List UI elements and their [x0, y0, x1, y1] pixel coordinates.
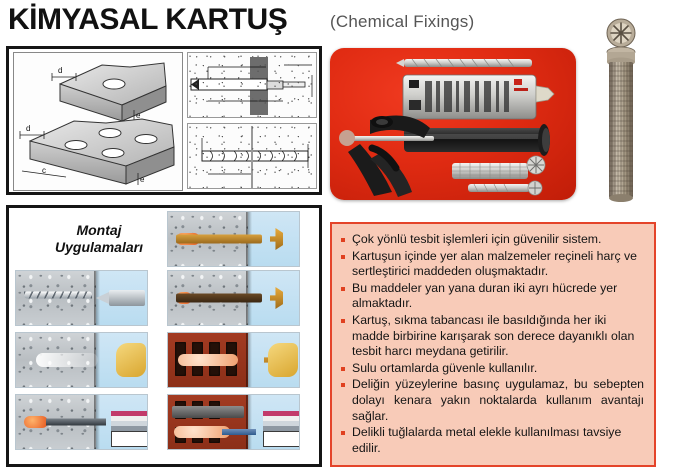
list-item: Bu maddeler yan yana duran iki ayrı hücr…	[340, 281, 644, 312]
mesh-sleeve-photo	[600, 16, 642, 204]
step-brick-with-mesh	[167, 394, 300, 450]
list-item: Çok yönlü tesbit işlemleri için güvenili…	[340, 232, 644, 248]
slab-isometric-svg: d e d c e	[14, 53, 182, 190]
step-inject-resin	[15, 394, 148, 450]
list-item: Sulu ortamlarda güvenle kullanılır.	[340, 361, 644, 377]
list-item: Kartuşun içinde yer alan malzemeler reçi…	[340, 249, 644, 280]
mesh-sleeve-svg	[600, 16, 642, 204]
step-insert-bolt	[167, 211, 300, 267]
step-hollow-brick	[167, 332, 300, 388]
page-subtitle: (Chemical Fixings)	[330, 12, 474, 32]
isometric-slab-diagram: d e d c e	[13, 52, 183, 191]
list-item: Deliğin yüzeylerine basınç uygulamaz, bu…	[340, 377, 644, 424]
svg-text:d: d	[26, 124, 30, 133]
features-panel: Çok yönlü tesbit işlemleri için güvenili…	[330, 222, 656, 467]
section-threaded-rod	[187, 123, 317, 189]
step-clean-hole	[15, 332, 148, 388]
svg-text:e: e	[140, 175, 145, 184]
montage-label: Montaj Uygulamaları	[43, 222, 155, 256]
list-item: Delikli tuğlalarda metal elekle kullanıl…	[340, 425, 644, 456]
product-photo	[330, 48, 576, 200]
montage-label-line2: Uygulamaları	[55, 239, 143, 255]
svg-text:d: d	[58, 66, 62, 75]
svg-text:c: c	[42, 166, 46, 175]
page-title: KİMYASAL KARTUŞ	[8, 2, 287, 38]
caulking-gun-icon-2	[263, 411, 300, 447]
step-cured-anchor	[167, 270, 300, 326]
page-root: KİMYASAL KARTUŞ (Chemical Fixings)	[0, 0, 682, 476]
montage-panel: Montaj Uygulamaları	[6, 205, 322, 467]
montage-label-line1: Montaj	[76, 222, 121, 238]
step-drill-hole	[15, 270, 148, 326]
section-anchor-installed	[187, 52, 317, 118]
section-drawings	[187, 52, 317, 189]
list-item: Kartuş, sıkma tabancası ile basıldığında…	[340, 313, 644, 360]
features-list: Çok yönlü tesbit işlemleri için güvenili…	[340, 232, 644, 456]
caulking-gun-icon	[111, 411, 148, 447]
technical-drawing-panel: d e d c e	[6, 46, 322, 195]
svg-text:e: e	[136, 111, 141, 120]
product-photo-svg	[330, 48, 576, 200]
